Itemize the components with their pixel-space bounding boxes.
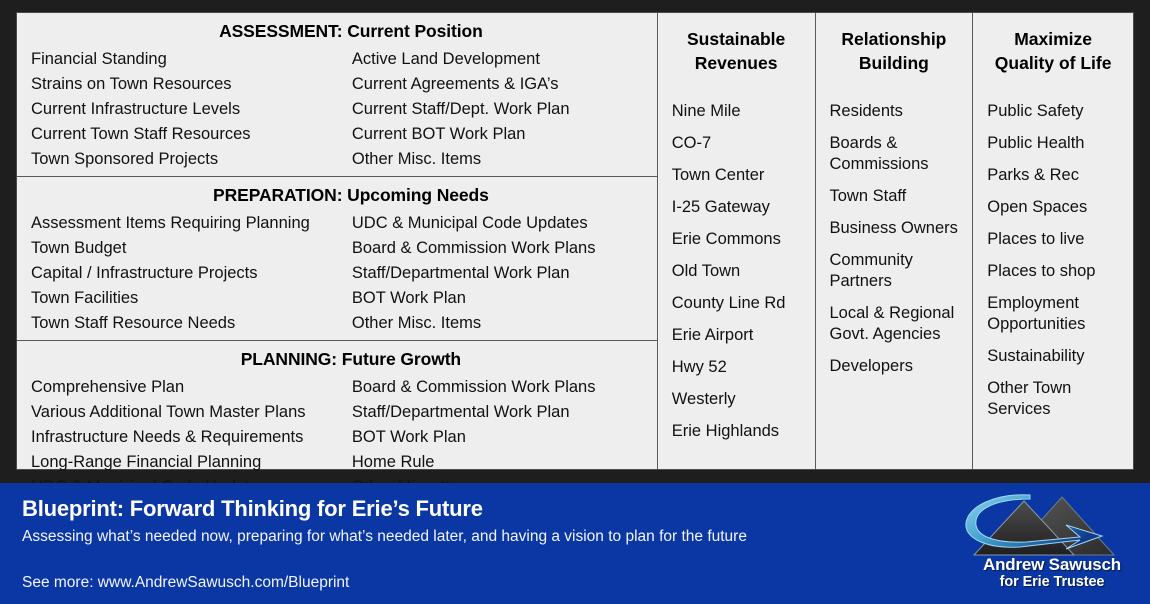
phase-item: BOT Work Plan <box>352 425 657 450</box>
category-item: Hwy 52 <box>672 357 801 378</box>
category-item: Sustainability <box>987 346 1119 367</box>
category-title-maximize-quality-of-life: Maximize Quality of Life <box>987 27 1119 75</box>
phase-item: Current Staff/Dept. Work Plan <box>352 97 657 122</box>
category-item: Open Spaces <box>987 197 1119 218</box>
category-item: Community Partners <box>830 250 959 292</box>
phase-item: Town Sponsored Projects <box>31 147 344 172</box>
banner-website-link[interactable]: See more: www.AndrewSawusch.com/Blueprin… <box>22 572 952 594</box>
category-item: Erie Highlands <box>672 421 801 442</box>
phase-item: Capital / Infrastructure Projects <box>31 261 344 286</box>
category-item: Town Center <box>672 165 801 186</box>
category-item: Business Owners <box>830 218 959 239</box>
phase-item: Various Additional Town Master Plans <box>31 400 344 425</box>
phase-item: Staff/Departmental Work Plan <box>352 400 657 425</box>
category-column-sustainable-revenues: Sustainable Revenues Nine Mile CO-7 Town… <box>658 13 816 469</box>
category-item: Boards & Commissions <box>830 133 959 175</box>
phases-column: ASSESSMENT: Current Position Financial S… <box>17 13 658 469</box>
phase-item: Strains on Town Resources <box>31 72 344 97</box>
phase-item: Town Staff Resource Needs <box>31 311 344 336</box>
phase-item: Other Misc. Items <box>352 311 657 336</box>
phase-item: Infrastructure Needs & Requirements <box>31 425 344 450</box>
phase-item: UDC & Municipal Code Updates <box>352 211 657 236</box>
phase-item: Board & Commission Work Plans <box>352 236 657 261</box>
phase-columns-assessment: Financial Standing Strains on Town Resou… <box>17 47 657 172</box>
category-item: I-25 Gateway <box>672 197 801 218</box>
phase-item: Staff/Departmental Work Plan <box>352 261 657 286</box>
phase-block-planning: PLANNING: Future Growth Comprehensive Pl… <box>17 341 657 504</box>
phase-item: Current Infrastructure Levels <box>31 97 344 122</box>
category-item: Other Town Services <box>987 378 1119 420</box>
phase-item: Town Budget <box>31 236 344 261</box>
phase-item: Comprehensive Plan <box>31 375 344 400</box>
phase-right-list-assessment: Active Land Development Current Agreemen… <box>344 47 657 172</box>
phase-item: Other Misc. Items <box>352 147 657 172</box>
category-title-sustainable-revenues: Sustainable Revenues <box>672 27 801 75</box>
phase-item: Board & Commission Work Plans <box>352 375 657 400</box>
phase-item: Current BOT Work Plan <box>352 122 657 147</box>
phase-item: Current Agreements & IGA’s <box>352 72 657 97</box>
phase-title-planning: PLANNING: Future Growth <box>17 349 657 370</box>
phase-item: Assessment Items Requiring Planning <box>31 211 344 236</box>
category-item: Developers <box>830 356 959 377</box>
category-item: Old Town <box>672 261 801 282</box>
phase-left-list-planning: Comprehensive Plan Various Additional To… <box>31 375 344 500</box>
category-item: Employment Opportunities <box>987 293 1119 335</box>
category-item: Erie Airport <box>672 325 801 346</box>
phase-columns-planning: Comprehensive Plan Various Additional To… <box>17 375 657 500</box>
category-item: Nine Mile <box>672 101 801 122</box>
category-item: CO-7 <box>672 133 801 154</box>
logo-candidate-name: Andrew Sawusch <box>962 555 1142 575</box>
phase-item: Current Town Staff Resources <box>31 122 344 147</box>
category-title-relationship-building: Relationship Building <box>830 27 959 75</box>
category-column-maximize-quality-of-life: Maximize Quality of Life Public Safety P… <box>973 13 1133 469</box>
category-item: Westerly <box>672 389 801 410</box>
phase-item: Home Rule <box>352 450 657 475</box>
slide-root: ASSESSMENT: Current Position Financial S… <box>0 0 1150 604</box>
category-item: Places to live <box>987 229 1119 250</box>
category-item: County Line Rd <box>672 293 801 314</box>
phase-item: Financial Standing <box>31 47 344 72</box>
logo-candidate-role: for Erie Trustee <box>962 574 1142 590</box>
phase-title-preparation: PREPARATION: Upcoming Needs <box>17 185 657 206</box>
phase-title-assessment: ASSESSMENT: Current Position <box>17 21 657 42</box>
banner-title: Blueprint: Forward Thinking for Erie’s F… <box>22 495 952 523</box>
phase-columns-preparation: Assessment Items Requiring Planning Town… <box>17 211 657 336</box>
phase-item: Long-Range Financial Planning <box>31 450 344 475</box>
strategy-matrix-panel: ASSESSMENT: Current Position Financial S… <box>16 12 1134 470</box>
phase-right-list-preparation: UDC & Municipal Code Updates Board & Com… <box>344 211 657 336</box>
phase-item: Town Facilities <box>31 286 344 311</box>
category-item: Public Safety <box>987 101 1119 122</box>
category-item: Erie Commons <box>672 229 801 250</box>
banner-text-block: Blueprint: Forward Thinking for Erie’s F… <box>22 495 952 594</box>
phase-item: Active Land Development <box>352 47 657 72</box>
phase-block-preparation: PREPARATION: Upcoming Needs Assessment I… <box>17 177 657 341</box>
category-item: Parks & Rec <box>987 165 1119 186</box>
banner-subtitle: Assessing what’s needed now, preparing f… <box>22 525 952 549</box>
phase-block-assessment: ASSESSMENT: Current Position Financial S… <box>17 13 657 177</box>
category-item: Town Staff <box>830 186 959 207</box>
phase-left-list-preparation: Assessment Items Requiring Planning Town… <box>31 211 344 336</box>
phase-right-list-planning: Board & Commission Work Plans Staff/Depa… <box>344 375 657 500</box>
campaign-logo[interactable]: Andrew Sawusch for Erie Trustee <box>962 487 1142 599</box>
category-item: Public Health <box>987 133 1119 154</box>
category-item: Local & Regional Govt. Agencies <box>830 303 959 345</box>
footer-banner: Blueprint: Forward Thinking for Erie’s F… <box>0 483 1150 604</box>
category-item: Places to shop <box>987 261 1119 282</box>
category-column-relationship-building: Relationship Building Residents Boards &… <box>816 13 974 469</box>
category-item: Residents <box>830 101 959 122</box>
phase-left-list-assessment: Financial Standing Strains on Town Resou… <box>31 47 344 172</box>
phase-item: BOT Work Plan <box>352 286 657 311</box>
